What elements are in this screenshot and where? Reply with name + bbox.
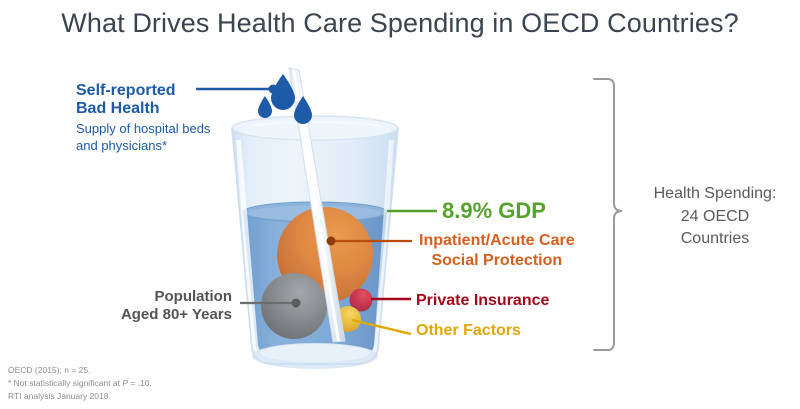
- annotation-other-factors: Other Factors: [416, 322, 521, 340]
- health-spending-bracket: [594, 79, 622, 350]
- footnote-line-2-pre: * Not statistically significant at: [8, 378, 122, 388]
- footnote-line-2: * Not statistically significant at P = .…: [8, 377, 152, 390]
- annotation-inpatient-line1: Inpatient/Acute Care: [419, 231, 575, 251]
- annotation-health-spending-line2: 24 OECD: [640, 206, 790, 229]
- annotation-population-line1: Population: [92, 288, 232, 306]
- annotation-bad-health-sub1: Supply of hospital beds: [76, 121, 210, 137]
- annotation-inpatient: Inpatient/Acute Care Social Protection: [419, 231, 575, 271]
- glass-base-inner: [260, 344, 370, 362]
- annotation-gdp: 8.9% GDP: [442, 199, 546, 224]
- glass-front-overlay: [232, 123, 398, 369]
- footnote-line-3: RTI analysis January 2018.: [8, 390, 152, 403]
- footnote-line-2-post: = .10.: [128, 378, 152, 388]
- annotation-bad-health: Self-reported Bad Health Supply of hospi…: [76, 82, 210, 154]
- annotation-inpatient-line2: Social Protection: [419, 251, 575, 271]
- footnote-line-1: OECD (2015); n = 25.: [8, 364, 152, 377]
- annotation-population-line2: Aged 80+ Years: [92, 306, 232, 324]
- glass-front-sheen: [232, 123, 398, 364]
- footnotes: OECD (2015); n = 25. * Not statistically…: [8, 364, 152, 404]
- annotation-health-spending: Health Spending: 24 OECD Countries: [640, 183, 790, 251]
- annotation-population: Population Aged 80+ Years: [92, 288, 232, 324]
- annotation-bad-health-line1: Self-reported: [76, 82, 210, 100]
- annotation-health-spending-line3: Countries: [640, 228, 790, 251]
- annotation-health-spending-line1: Health Spending:: [640, 183, 790, 206]
- infographic-canvas: What Drives Health Care Spending in OECD…: [0, 0, 800, 409]
- annotation-private-insurance: Private Insurance: [416, 292, 549, 310]
- annotation-bad-health-sub2: and physicians*: [76, 138, 210, 154]
- annotation-bad-health-line2: Bad Health: [76, 100, 210, 118]
- water-drop-small: [258, 96, 272, 118]
